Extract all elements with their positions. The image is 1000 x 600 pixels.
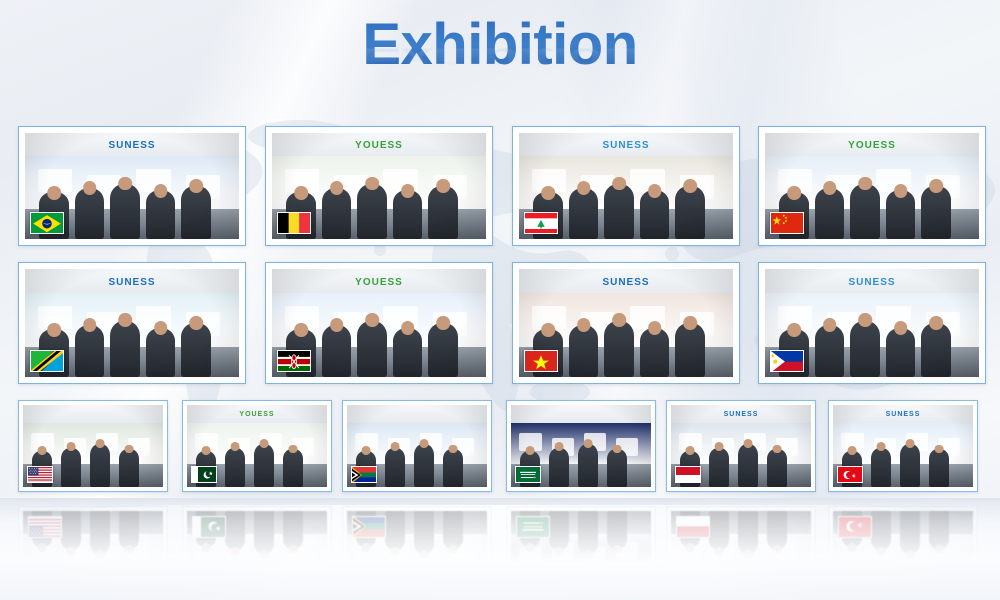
flag-united-states-icon — [28, 516, 62, 538]
exhibition-photo-reflection — [18, 506, 168, 598]
exhibition-photo-image — [511, 405, 651, 487]
exhibition-photo-image: SUNESS — [671, 405, 811, 487]
exhibition-photo-image: SUNESS — [833, 511, 973, 593]
exhibition-photo-image: YOUESS — [272, 269, 486, 377]
flag-pakistan-icon — [192, 516, 226, 538]
exhibition-photo-image: YOUESS — [187, 405, 327, 487]
exhibition-photo-image — [347, 511, 487, 593]
exhibition-photo-south-africa[interactable] — [342, 400, 492, 492]
exhibition-photo-belgium[interactable]: YOUESS — [265, 126, 493, 246]
exhibition-photo-brazil[interactable]: SUNESS — [18, 126, 246, 246]
exhibition-photo-image: SUNESS — [519, 269, 733, 377]
exhibition-photo-china[interactable]: YOUESS — [758, 126, 986, 246]
flag-saudi-arabia-icon — [516, 516, 550, 538]
exhibition-photo-image: SUNESS — [833, 405, 973, 487]
flag-kenya-icon — [277, 350, 311, 372]
exhibition-photo-image: SUNESS — [25, 133, 239, 239]
flag-vietnam-icon — [524, 350, 558, 372]
flag-tanzania-icon — [30, 350, 64, 372]
flag-south-africa-icon — [352, 516, 386, 538]
exhibition-photo-image — [347, 405, 487, 487]
exhibition-photo-united-states[interactable] — [18, 400, 168, 492]
flag-lebanon-icon — [524, 212, 558, 234]
exhibition-photo-image: SUNESS — [671, 511, 811, 593]
flag-china-icon — [770, 212, 804, 234]
exhibition-photo-image: SUNESS — [519, 133, 733, 239]
exhibition-photo-image: YOUESS — [272, 133, 486, 239]
exhibition-photo-reflection — [506, 506, 656, 598]
page-title-reflection: Exhibition — [0, 43, 1000, 75]
exhibition-photo-reflection: SUNESS — [828, 506, 978, 598]
exhibition-photo-pakistan[interactable]: YOUESS — [182, 400, 332, 492]
exhibition-photo-image: YOUESS — [187, 511, 327, 593]
exhibition-photo-tanzania[interactable]: SUNESS — [18, 262, 246, 384]
exhibition-photo-image — [23, 511, 163, 593]
exhibition-photo-image — [23, 405, 163, 487]
flag-philippines-icon — [770, 350, 804, 372]
exhibition-photo-lebanon[interactable]: SUNESS — [512, 126, 740, 246]
flag-saudi-arabia-icon — [515, 466, 541, 483]
exhibition-photo-image: SUNESS — [25, 269, 239, 377]
flag-turkey-icon — [837, 466, 863, 483]
exhibition-photo-image — [511, 511, 651, 593]
exhibition-photo-image: SUNESS — [765, 269, 979, 377]
flag-belgium-icon — [277, 212, 311, 234]
exhibition-photo-indonesia[interactable]: SUNESS — [666, 400, 816, 492]
exhibition-photo-vietnam[interactable]: SUNESS — [512, 262, 740, 384]
exhibition-photo-reflection: YOUESS — [182, 506, 332, 598]
exhibition-photo-reflection: SUNESS — [666, 506, 816, 598]
exhibition-photo-turkey[interactable]: SUNESS — [828, 400, 978, 492]
exhibition-photo-philippines[interactable]: SUNESS — [758, 262, 986, 384]
exhibition-photo-reflection — [342, 506, 492, 598]
page-title-container: Exhibition Exhibition — [0, 16, 1000, 133]
exhibition-photo-image: YOUESS — [765, 133, 979, 239]
flag-turkey-icon — [838, 516, 872, 538]
flag-indonesia-icon — [676, 516, 710, 538]
flag-pakistan-icon — [191, 466, 217, 483]
flag-united-states-icon — [27, 466, 53, 483]
flag-south-africa-icon — [351, 466, 377, 483]
flag-indonesia-icon — [675, 466, 701, 483]
exhibition-photo-saudi-arabia[interactable] — [506, 400, 656, 492]
flag-brazil-icon — [30, 212, 64, 234]
exhibition-page: Exhibition Exhibition SUNESSYOUESSSUNESS… — [0, 0, 1000, 600]
exhibition-photo-kenya[interactable]: YOUESS — [265, 262, 493, 384]
